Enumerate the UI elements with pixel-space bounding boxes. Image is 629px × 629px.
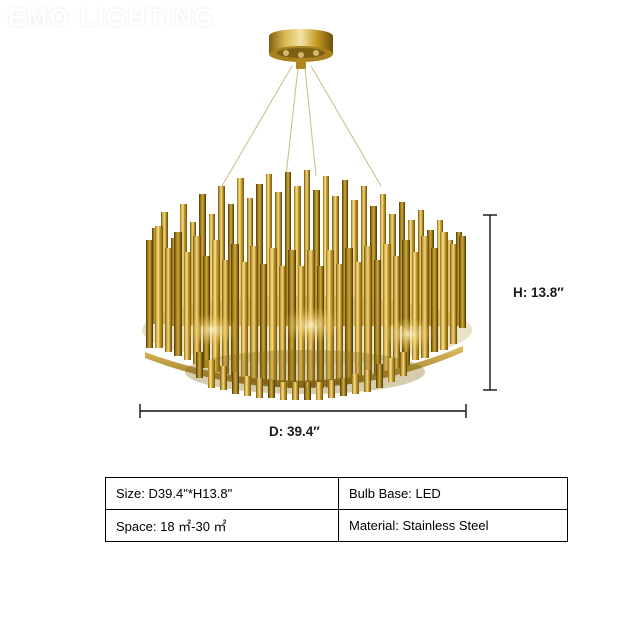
diameter-dimension-line — [140, 404, 466, 418]
spec-space: Space: 18 ㎡-30 ㎡ — [106, 510, 339, 542]
ceiling-canopy — [269, 29, 333, 69]
height-dimension-line — [483, 215, 497, 390]
table-row: Space: 18 ㎡-30 ㎡ Material: Stainless Ste… — [106, 510, 568, 542]
spec-material: Material: Stainless Steel — [339, 510, 568, 542]
product-image-canvas: EMO LIGHTING — [0, 0, 629, 629]
table-row: Size: D39.4"*H13.8" Bulb Base: LED — [106, 478, 568, 510]
spec-bulb-base: Bulb Base: LED — [339, 478, 568, 510]
spec-size: Size: D39.4"*H13.8" — [106, 478, 339, 510]
suspension-cables — [222, 66, 381, 186]
height-dimension-label: H: 13.8″ — [513, 285, 564, 300]
chandelier-illustration — [0, 0, 629, 470]
specification-table: Size: D39.4"*H13.8" Bulb Base: LED Space… — [105, 477, 568, 542]
diameter-dimension-label: D: 39.4″ — [269, 424, 320, 439]
